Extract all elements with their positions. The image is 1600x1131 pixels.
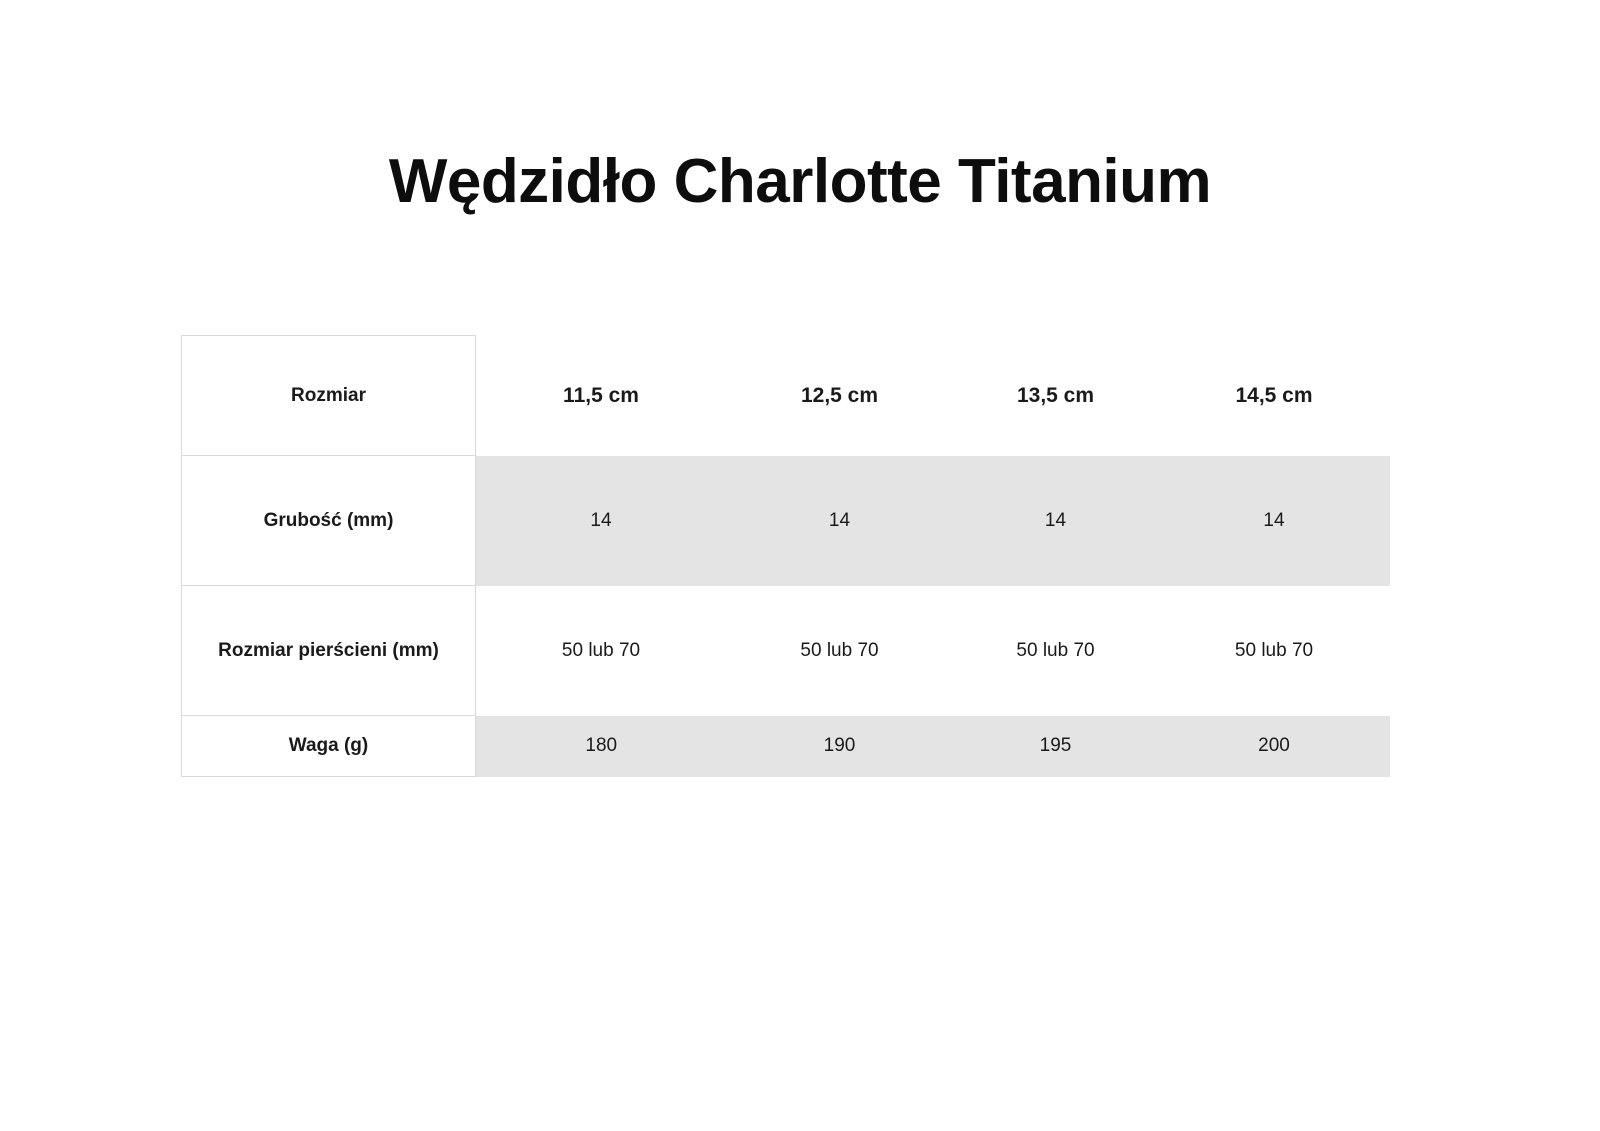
table-header-size-2: 12,5 cm: [727, 336, 953, 456]
cell-waga-1: 180: [476, 716, 727, 777]
table-row-rozmiar-pierscieni: Rozmiar pierścieni (mm) 50 lub 70 50 lub…: [182, 586, 1390, 716]
table-header-label-rozmiar: Rozmiar: [182, 336, 476, 456]
cell-grubosc-4: 14: [1159, 456, 1390, 586]
cell-rozmiar-pierscieni-3: 50 lub 70: [953, 586, 1159, 716]
cell-waga-4: 200: [1159, 716, 1390, 777]
cell-grubosc-1: 14: [476, 456, 727, 586]
table-header-size-4: 14,5 cm: [1159, 336, 1390, 456]
table-header-size-1: 11,5 cm: [476, 336, 727, 456]
row-label-rozmiar-pierscieni: Rozmiar pierścieni (mm): [182, 586, 476, 716]
table-header-row: Rozmiar 11,5 cm 12,5 cm 13,5 cm 14,5 cm: [182, 336, 1390, 456]
page-title: Wędzidło Charlotte Titanium: [0, 146, 1600, 217]
page-root: Wędzidło Charlotte Titanium Rozmiar 11,5…: [0, 0, 1600, 1131]
row-label-waga: Waga (g): [182, 716, 476, 777]
specification-table: Rozmiar 11,5 cm 12,5 cm 13,5 cm 14,5 cm …: [181, 335, 1390, 777]
cell-rozmiar-pierscieni-4: 50 lub 70: [1159, 586, 1390, 716]
table-header-size-3: 13,5 cm: [953, 336, 1159, 456]
row-label-grubosc: Grubość (mm): [182, 456, 476, 586]
cell-rozmiar-pierscieni-2: 50 lub 70: [727, 586, 953, 716]
cell-rozmiar-pierscieni-1: 50 lub 70: [476, 586, 727, 716]
cell-grubosc-2: 14: [727, 456, 953, 586]
table-row-grubosc: Grubość (mm) 14 14 14 14: [182, 456, 1390, 586]
cell-grubosc-3: 14: [953, 456, 1159, 586]
table-row-waga: Waga (g) 180 190 195 200: [182, 716, 1390, 777]
cell-waga-3: 195: [953, 716, 1159, 777]
cell-waga-2: 190: [727, 716, 953, 777]
